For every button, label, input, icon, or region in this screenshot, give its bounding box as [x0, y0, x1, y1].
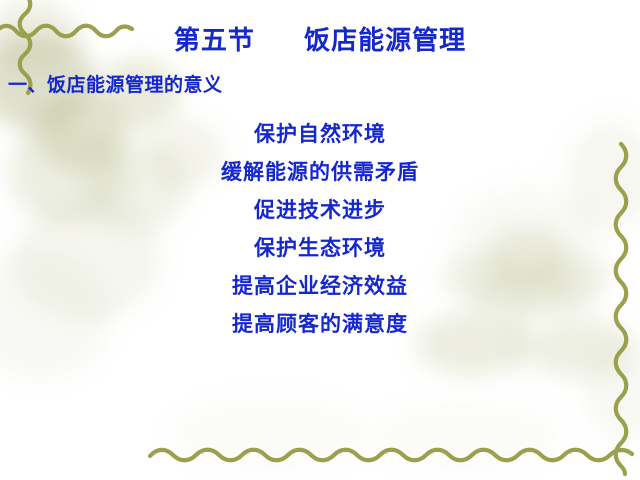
body-line: 提高顾客的满意度: [0, 306, 640, 344]
body-line: 保护自然环境: [0, 116, 640, 154]
presentation-slide: 第五节 饭店能源管理 一、饭店能源管理的意义 保护自然环境 缓解能源的供需矛盾 …: [0, 0, 640, 480]
body-bullet-list: 保护自然环境 缓解能源的供需矛盾 促进技术进步 保护生态环境 提高企业经济效益 …: [0, 116, 640, 344]
body-line: 保护生态环境: [0, 230, 640, 268]
slide-text-layer: 第五节 饭店能源管理 一、饭店能源管理的意义 保护自然环境 缓解能源的供需矛盾 …: [0, 0, 640, 480]
body-line: 缓解能源的供需矛盾: [0, 154, 640, 192]
body-line: 促进技术进步: [0, 192, 640, 230]
section-heading: 一、饭店能源管理的意义: [8, 76, 223, 97]
slide-title: 第五节 饭店能源管理: [0, 26, 640, 55]
body-line: 提高企业经济效益: [0, 268, 640, 306]
